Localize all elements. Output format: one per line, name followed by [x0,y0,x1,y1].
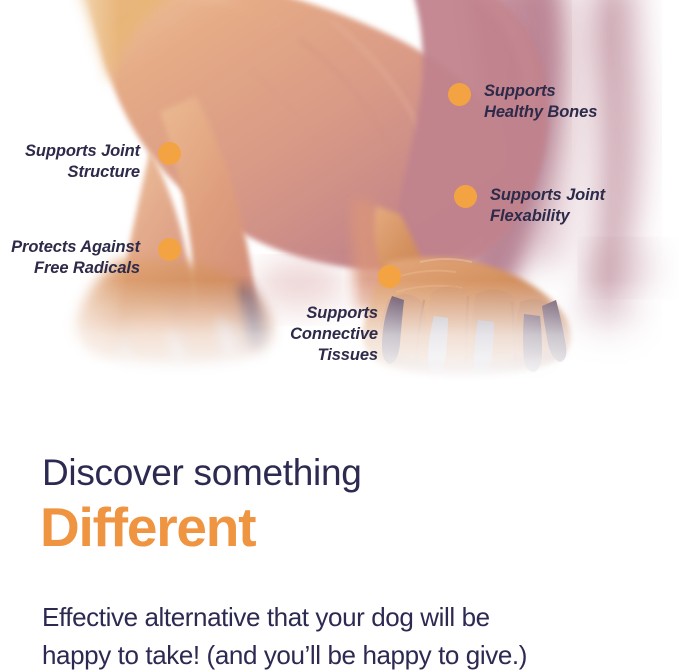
callout-dot-supports-joint-flexability [454,185,477,208]
callout-supports-connective-tissues: Supports Connective Tissues [240,303,378,366]
callout-dot-protects-against-free-radicals [158,238,181,261]
callout-dot-supports-connective-tissues [378,265,401,288]
callout-supports-healthy-bones: Supports Healthy Bones [484,81,674,123]
callout-protects-against-free-radicals: Protects Against Free Radicals [0,237,140,279]
far-right-paw-blur [586,242,670,294]
callout-dot-supports-healthy-bones [448,83,471,106]
headline-line-1: Discover something [42,452,362,494]
body-copy: Effective alternative that your dog will… [42,598,662,672]
headline-line-2: Different [40,496,255,558]
callout-supports-joint-flexability: Supports Joint Flexability [490,185,679,227]
infographic-root: Supports Joint Structure Protects Agains… [0,0,679,672]
callout-dot-supports-joint-structure [158,142,181,165]
callout-supports-joint-structure: Supports Joint Structure [0,141,140,183]
